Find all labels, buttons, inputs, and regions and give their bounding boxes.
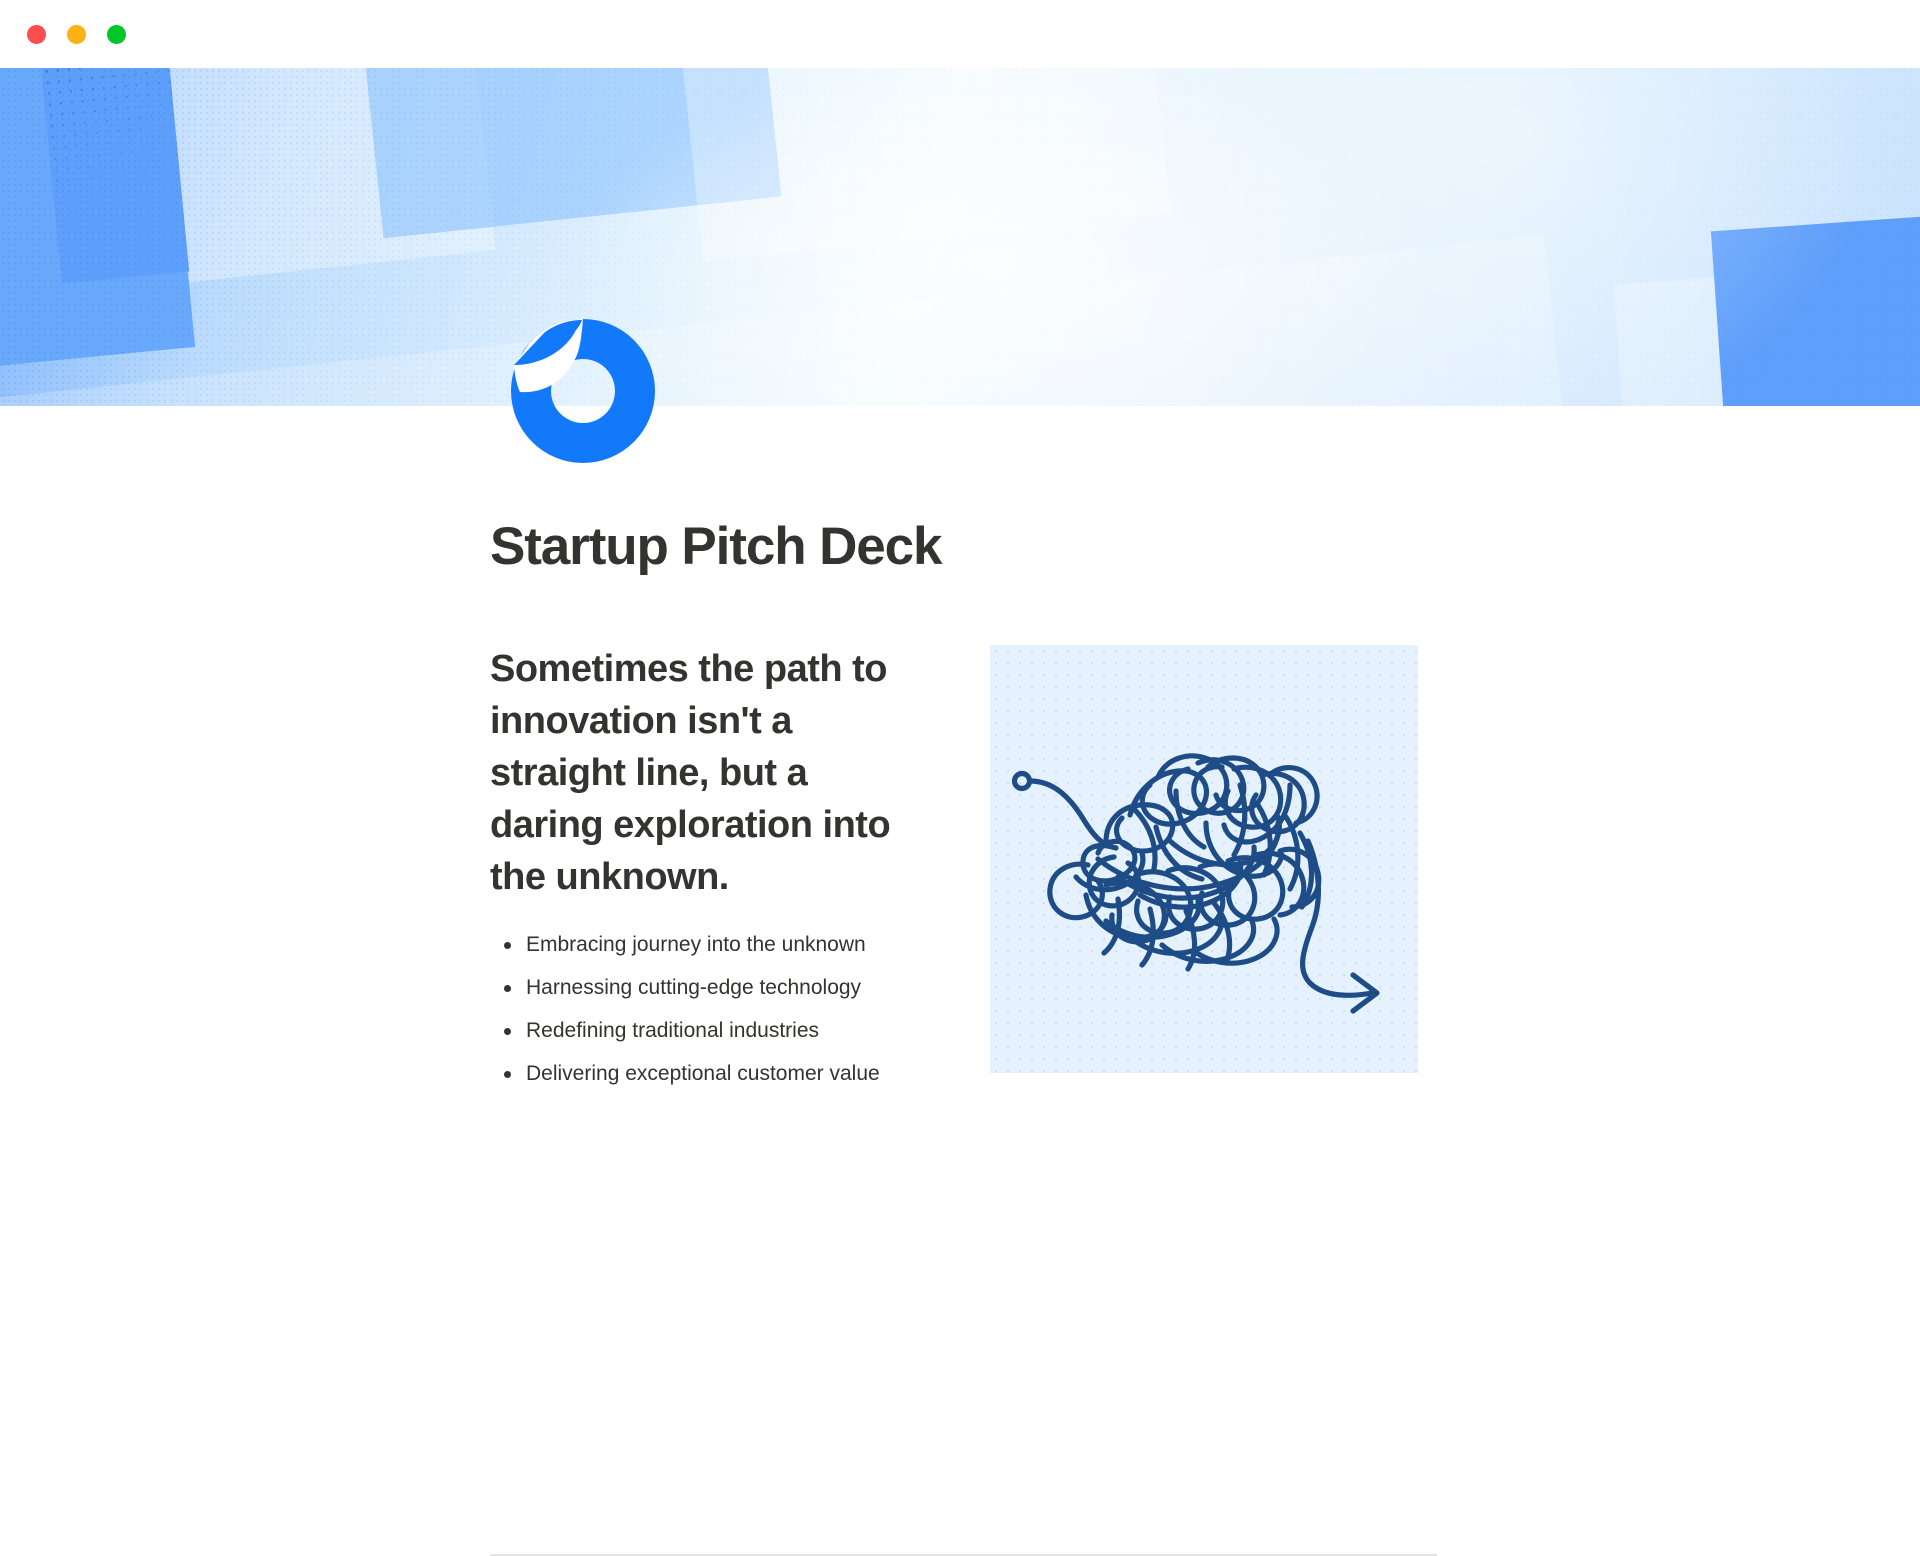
list-item: Embracing journey into the unknown [490, 933, 920, 957]
bullet-list: Embracing journey into the unknown Harne… [490, 933, 920, 1086]
page-title: Startup Pitch Deck [490, 516, 941, 577]
list-item: Redefining traditional industries [490, 1019, 920, 1043]
tangled-path-arrow-icon [990, 645, 1418, 1073]
list-item-label: Embracing journey into the unknown [526, 933, 866, 956]
hero-banner [0, 68, 1920, 406]
brand-logo [508, 316, 658, 466]
list-item-label: Redefining traditional industries [526, 1019, 819, 1042]
bullet-point-icon [504, 1028, 511, 1035]
text-column: Sometimes the path to innovation isn't a… [490, 643, 920, 1105]
banner-glow-overlay [0, 68, 1920, 406]
list-item: Delivering exceptional customer value [490, 1062, 920, 1086]
maximize-window-button[interactable] [107, 25, 126, 44]
minimize-window-button[interactable] [67, 25, 86, 44]
close-window-button[interactable] [27, 25, 46, 44]
bullet-point-icon [504, 985, 511, 992]
bullet-point-icon [504, 942, 511, 949]
list-item-label: Delivering exceptional customer value [526, 1062, 880, 1085]
headline: Sometimes the path to innovation isn't a… [490, 643, 910, 903]
list-item: Harnessing cutting-edge technology [490, 976, 920, 1000]
window-titlebar [0, 0, 1920, 68]
illustration-panel [990, 645, 1418, 1073]
spiral-ring-logo-icon [508, 316, 658, 466]
list-item-label: Harnessing cutting-edge technology [526, 976, 861, 999]
window-traffic-lights [27, 25, 126, 44]
bullet-point-icon [504, 1071, 511, 1078]
